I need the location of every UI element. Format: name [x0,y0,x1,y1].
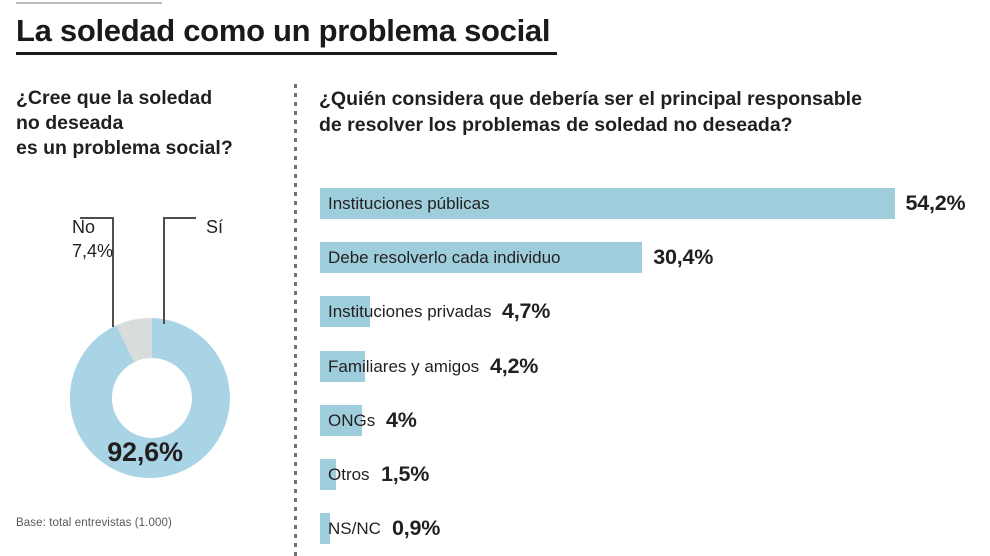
bar-value-label: 30,4% [653,242,713,273]
right-question-line-1: ¿Quién considera que debería ser el prin… [319,86,985,112]
bar-value-label: 4% [386,405,417,436]
bar-category-label: Instituciones privadas [328,296,491,327]
bar-row: Instituciones privadas4,7% [320,296,980,327]
bar-value-label: 0,9% [392,513,440,544]
donut-label-si: Sí [206,215,223,239]
donut-label-no: No 7,4% [72,215,113,263]
left-question-line-1: ¿Cree que la soledad [16,86,284,111]
top-rule-decoration [16,2,162,4]
right-question: ¿Quién considera que debería ser el prin… [319,86,985,138]
page-title: La soledad como un problema social [16,12,550,50]
bar-value-label: 4,2% [490,351,538,382]
column-divider [294,84,297,556]
bar-chart: Instituciones públicas54,2%Debe resolver… [320,188,980,556]
bar-category-label: NS/NC [328,513,381,544]
bar-category-label: Otros [328,459,370,490]
bar-row: Familiares y amigos4,2% [320,351,980,382]
bar-category-label: ONGs [328,405,375,436]
bar-value-label: 54,2% [906,188,966,219]
left-question-line-2: no deseada [16,111,284,136]
bar-category-label: Familiares y amigos [328,351,479,382]
bar-row: Debe resolverlo cada individuo30,4% [320,242,980,273]
bar-row: NS/NC0,9% [320,513,980,544]
left-question-line-3: es un problema social? [16,136,284,161]
donut-value-si: 92,6% [0,437,290,468]
bar-row: ONGs4% [320,405,980,436]
infographic-root: La soledad como un problema social ¿Cree… [0,0,990,556]
bar-row: Otros1,5% [320,459,980,490]
bar-category-label: Debe resolverlo cada individuo [328,242,560,273]
leader-line-si [164,218,196,324]
donut-label-no-text: No [72,215,113,239]
bar-value-label: 1,5% [381,459,429,490]
bar-row: Instituciones públicas54,2% [320,188,980,219]
base-note: Base: total entrevistas (1.000) [16,517,172,529]
right-question-line-2: de resolver los problemas de soledad no … [319,112,985,138]
donut-label-no-value: 7,4% [72,239,113,263]
bar-value-label: 4,7% [502,296,550,327]
bar-category-label: Instituciones públicas [328,188,490,219]
title-underline [16,52,557,55]
left-question: ¿Cree que la soledad no deseada es un pr… [16,86,284,161]
